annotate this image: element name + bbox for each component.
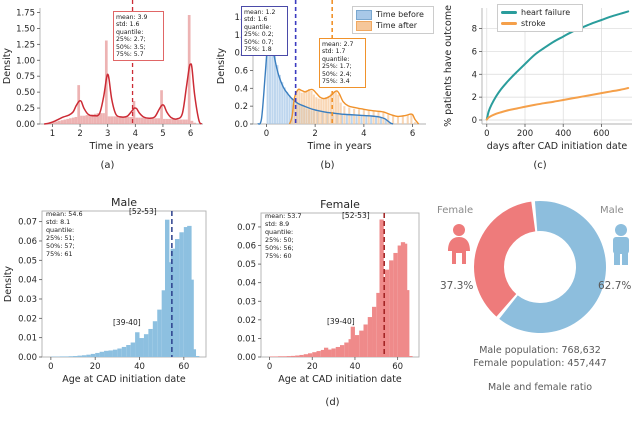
- bar: [185, 120, 188, 124]
- svg-text:0.03: 0.03: [18, 295, 37, 305]
- bar: [69, 356, 73, 357]
- bar: [122, 117, 125, 124]
- svg-text:days after CAD initiation date: days after CAD initiation date: [487, 141, 628, 152]
- bar: [335, 91, 337, 124]
- svg-text:600: 600: [593, 129, 609, 139]
- bar: [355, 335, 359, 357]
- donut-label-male: Male: [600, 205, 624, 216]
- svg-text:0: 0: [48, 362, 53, 372]
- bar: [75, 117, 78, 124]
- panel-b-stats-after-box: mean: 2.7 std: 1.7 quantile: 25%: 1.7; 5…: [319, 38, 366, 88]
- bar: [278, 356, 282, 357]
- bar: [77, 85, 80, 124]
- bar: [308, 353, 312, 357]
- bar: [360, 116, 362, 124]
- donut-title: Male and female ratio: [440, 382, 640, 393]
- bar: [82, 355, 86, 357]
- svg-text:4: 4: [133, 129, 138, 139]
- panel-d-male-stats: mean: 54.6 std: 8.1 quantile: 25%: 51; 5…: [46, 210, 83, 258]
- legend-label-heart-failure: heart failure: [521, 8, 570, 17]
- bar: [182, 120, 185, 124]
- bar: [55, 121, 58, 124]
- bar: [113, 116, 116, 124]
- bar: [108, 350, 112, 357]
- panel-d-male-plot: 02040600.000.010.020.030.040.050.060.07A…: [0, 185, 225, 395]
- bar: [397, 116, 399, 124]
- legend-label-after: Time after: [376, 21, 417, 30]
- panel-c-legend: heart failure stroke: [497, 4, 583, 32]
- svg-text:60: 60: [392, 362, 403, 372]
- legend-label-before: Time before: [376, 10, 424, 19]
- panel-a: 1234560.000.250.500.751.001.251.501.75Ti…: [0, 0, 215, 180]
- panel-d-male-annot-secondary: [39-40]: [113, 318, 141, 327]
- panel-b: 02460.00.20.40.60.81.01.2Time in yearsDe…: [215, 0, 440, 180]
- bar: [351, 115, 353, 124]
- svg-text:1.25: 1.25: [16, 40, 35, 50]
- panel-d-male: 02040600.000.010.020.030.040.050.060.07A…: [0, 185, 225, 423]
- bar: [122, 347, 126, 357]
- bar: [402, 116, 404, 124]
- bar: [77, 356, 81, 357]
- bar: [363, 324, 367, 357]
- bar: [337, 95, 339, 124]
- svg-text:0.05: 0.05: [18, 256, 37, 266]
- bar: [141, 118, 144, 124]
- svg-text:0: 0: [484, 129, 489, 139]
- svg-text:0.06: 0.06: [18, 237, 37, 247]
- panel-a-caption: (a): [0, 160, 215, 171]
- bar: [193, 123, 196, 124]
- svg-text:400: 400: [555, 129, 571, 139]
- bar: [179, 232, 183, 357]
- svg-text:0: 0: [264, 129, 269, 139]
- bar: [408, 356, 412, 357]
- bar: [327, 350, 331, 357]
- svg-text:0.05: 0.05: [237, 260, 256, 270]
- svg-text:0: 0: [472, 116, 477, 126]
- bar: [69, 118, 72, 124]
- bar: [171, 119, 174, 124]
- bar: [363, 110, 365, 124]
- bar: [148, 329, 152, 357]
- svg-text:20: 20: [90, 362, 101, 372]
- bar: [372, 307, 376, 357]
- panel-b-caption: (b): [215, 160, 440, 171]
- bar: [195, 356, 199, 357]
- bar: [389, 260, 393, 357]
- svg-text:1.50: 1.50: [16, 24, 35, 34]
- bar: [359, 331, 363, 357]
- bar: [291, 356, 295, 357]
- bar: [325, 97, 327, 124]
- bar: [385, 270, 389, 357]
- svg-text:6: 6: [410, 129, 415, 139]
- female-figure-icon: [446, 223, 472, 265]
- svg-text:3: 3: [105, 129, 110, 139]
- legend-line-heart-failure: [501, 11, 517, 14]
- bar: [189, 280, 193, 357]
- bar: [152, 118, 155, 124]
- bar: [117, 348, 121, 357]
- panel-a-stats-box: mean: 3.9 std: 1.6 quantile: 25%: 2.7; 5…: [113, 11, 164, 61]
- legend-label-stroke: stroke: [521, 19, 546, 28]
- panel-d-caption: (d): [225, 397, 440, 408]
- legend-item-stroke: stroke: [501, 18, 579, 29]
- bar: [405, 290, 409, 357]
- bar: [60, 356, 64, 357]
- svg-text:0.2: 0.2: [234, 102, 248, 112]
- bar: [392, 116, 394, 124]
- svg-text:0.01: 0.01: [18, 334, 37, 344]
- bar: [135, 118, 138, 124]
- bar: [153, 321, 157, 357]
- bar: [86, 115, 89, 124]
- bar: [282, 356, 286, 357]
- bar: [99, 113, 102, 124]
- svg-text:Time in years: Time in years: [88, 141, 153, 152]
- bar: [177, 120, 180, 124]
- svg-text:0.4: 0.4: [234, 84, 248, 94]
- bar: [310, 91, 312, 124]
- male-figure-icon: [608, 223, 634, 265]
- bar: [116, 116, 119, 124]
- bar: [138, 118, 141, 124]
- svg-text:0.02: 0.02: [18, 314, 37, 324]
- svg-text:Time in years: Time in years: [306, 141, 371, 152]
- bar: [298, 90, 300, 124]
- bar: [284, 87, 286, 124]
- bar: [375, 117, 377, 124]
- svg-text:Age at CAD initiation date: Age at CAD initiation date: [62, 374, 186, 385]
- bar: [140, 338, 144, 357]
- svg-text:0.6: 0.6: [234, 66, 248, 76]
- bar: [110, 116, 113, 124]
- bar: [312, 352, 316, 357]
- bar: [393, 253, 397, 357]
- bar: [113, 350, 117, 357]
- svg-text:0.07: 0.07: [237, 223, 256, 233]
- bar: [270, 356, 274, 357]
- bar: [61, 120, 64, 124]
- bar: [377, 112, 379, 124]
- svg-text:Density: Density: [2, 48, 13, 84]
- legend-item-heart-failure: heart failure: [501, 7, 579, 18]
- bar: [368, 111, 370, 124]
- panel-d-female-stats: mean: 53.7 std: 8.9 quantile: 25%: 50; 5…: [265, 212, 302, 260]
- bar: [144, 334, 148, 357]
- bar: [131, 342, 135, 357]
- bar: [274, 356, 278, 357]
- svg-text:5: 5: [160, 129, 165, 139]
- svg-text:0.00: 0.00: [16, 120, 35, 130]
- svg-text:2: 2: [77, 129, 82, 139]
- donut-percent-female: 37.3%: [440, 280, 473, 292]
- legend-item-time-after: Time after: [356, 20, 430, 31]
- svg-text:0.04: 0.04: [18, 276, 37, 286]
- svg-text:1.75: 1.75: [16, 8, 35, 18]
- panel-d-female: 02040600.000.010.020.030.040.050.060.07A…: [225, 185, 440, 423]
- bar: [58, 121, 61, 124]
- bar: [295, 356, 299, 357]
- svg-text:0.01: 0.01: [237, 334, 256, 344]
- donut-label-female: Female: [437, 205, 473, 216]
- bar: [373, 111, 375, 124]
- panel-d-female-annot-peak: [52-53]: [342, 211, 370, 220]
- svg-text:Age at CAD initiation date: Age at CAD initiation date: [278, 374, 402, 385]
- bar: [91, 354, 95, 357]
- svg-text:40: 40: [350, 362, 361, 372]
- bar: [157, 118, 160, 124]
- panel-b-legend: Time before Time after: [352, 6, 434, 34]
- bar: [410, 114, 412, 124]
- bar: [340, 345, 344, 357]
- bar: [157, 310, 161, 357]
- svg-text:40: 40: [134, 362, 145, 372]
- bar: [127, 117, 130, 124]
- bar: [365, 116, 367, 124]
- bar: [66, 119, 69, 124]
- legend-item-time-before: Time before: [356, 9, 430, 20]
- bar: [95, 353, 99, 357]
- bar: [192, 349, 196, 357]
- svg-text:0.00: 0.00: [18, 353, 37, 363]
- bar: [163, 119, 166, 124]
- donut-male-population: Male population: 768,632: [440, 345, 640, 356]
- panel-c-caption: (c): [440, 160, 640, 171]
- donut-female-population: Female population: 457,447: [440, 358, 640, 369]
- panel-d-female-annot-secondary: [39-40]: [327, 317, 355, 326]
- bar: [149, 118, 152, 124]
- bar: [353, 109, 355, 124]
- svg-text:200: 200: [517, 129, 533, 139]
- bar: [344, 343, 348, 357]
- svg-text:2: 2: [312, 129, 317, 139]
- panel-b-stats-before-box: mean: 1.2 std: 1.6 quantile: 25%: 0.2; 5…: [241, 6, 288, 56]
- bar: [287, 356, 291, 357]
- svg-text:0.07: 0.07: [18, 218, 37, 228]
- bar: [104, 351, 108, 357]
- series-line-stroke: [487, 88, 628, 120]
- panel-c: 020040060002468days after CAD initiation…: [440, 0, 640, 180]
- svg-text:0.00: 0.00: [237, 353, 256, 363]
- svg-text:4: 4: [472, 70, 477, 80]
- bar: [168, 119, 171, 124]
- bar: [299, 355, 303, 357]
- bar: [336, 347, 340, 357]
- bar: [180, 120, 183, 124]
- svg-text:0: 0: [267, 362, 272, 372]
- bar: [358, 109, 360, 124]
- bar: [356, 115, 358, 124]
- donut-percent-male: 62.7%: [598, 280, 631, 292]
- panel-d-donut: Female Male 37.3% 62.7% Male population:…: [440, 185, 640, 423]
- svg-text:% patients have outcome: % patients have outcome: [443, 5, 454, 127]
- svg-text:Density: Density: [3, 266, 14, 302]
- svg-text:Density: Density: [216, 48, 227, 84]
- svg-text:Female: Female: [320, 198, 360, 211]
- bar: [407, 115, 409, 124]
- bar: [102, 113, 105, 124]
- bar: [83, 116, 86, 124]
- bar: [370, 116, 372, 124]
- panel-d-female-plot: 02040600.000.010.020.030.040.050.060.07A…: [225, 185, 440, 395]
- bar: [175, 239, 179, 357]
- bar: [327, 96, 329, 124]
- svg-text:60: 60: [178, 362, 189, 372]
- bar: [368, 317, 372, 357]
- panel-a-plot: 1234560.000.250.500.751.001.251.501.75Ti…: [0, 0, 215, 160]
- svg-text:20: 20: [307, 362, 318, 372]
- bar: [380, 118, 382, 124]
- bar: [308, 89, 310, 124]
- bar: [80, 116, 83, 124]
- bar: [166, 119, 169, 124]
- bar: [348, 107, 350, 124]
- kde-curve: [44, 64, 201, 124]
- donut-slice-female: [474, 202, 535, 317]
- bar: [289, 95, 291, 124]
- bar: [73, 356, 77, 357]
- svg-text:6: 6: [472, 47, 477, 57]
- svg-text:1.00: 1.00: [16, 56, 35, 66]
- svg-text:8: 8: [472, 25, 477, 35]
- svg-text:0.03: 0.03: [237, 297, 256, 307]
- bar: [303, 92, 305, 124]
- panel-d-male-annot-peak: [52-53]: [129, 207, 157, 216]
- bar: [72, 118, 75, 124]
- svg-text:0.06: 0.06: [237, 242, 256, 252]
- bar: [331, 348, 335, 357]
- legend-swatch-after: [356, 21, 372, 31]
- bar: [155, 118, 158, 124]
- bar: [64, 120, 67, 124]
- svg-text:0.50: 0.50: [16, 88, 35, 98]
- svg-text:1: 1: [50, 129, 55, 139]
- bar: [86, 355, 90, 357]
- bar: [191, 121, 194, 124]
- bar: [301, 93, 303, 124]
- bar: [88, 115, 91, 124]
- bar: [100, 352, 104, 357]
- bar: [108, 116, 111, 124]
- bar: [317, 351, 321, 357]
- bar: [64, 356, 68, 357]
- bar: [124, 117, 127, 124]
- bar: [286, 92, 288, 124]
- bar: [281, 82, 283, 124]
- legend-swatch-before: [356, 10, 372, 20]
- svg-text:0.75: 0.75: [16, 72, 35, 82]
- bar: [414, 122, 416, 124]
- svg-text:2: 2: [472, 93, 477, 103]
- svg-text:0.0: 0.0: [234, 120, 248, 130]
- histogram-bars-after: [291, 89, 416, 124]
- svg-text:6: 6: [188, 129, 193, 139]
- svg-text:0.04: 0.04: [237, 279, 256, 289]
- bar: [304, 354, 308, 357]
- bar: [346, 115, 348, 124]
- bar: [126, 345, 130, 357]
- svg-text:0.02: 0.02: [237, 316, 256, 326]
- legend-line-stroke: [501, 22, 517, 25]
- svg-text:0.25: 0.25: [16, 104, 35, 114]
- svg-text:4: 4: [361, 129, 366, 139]
